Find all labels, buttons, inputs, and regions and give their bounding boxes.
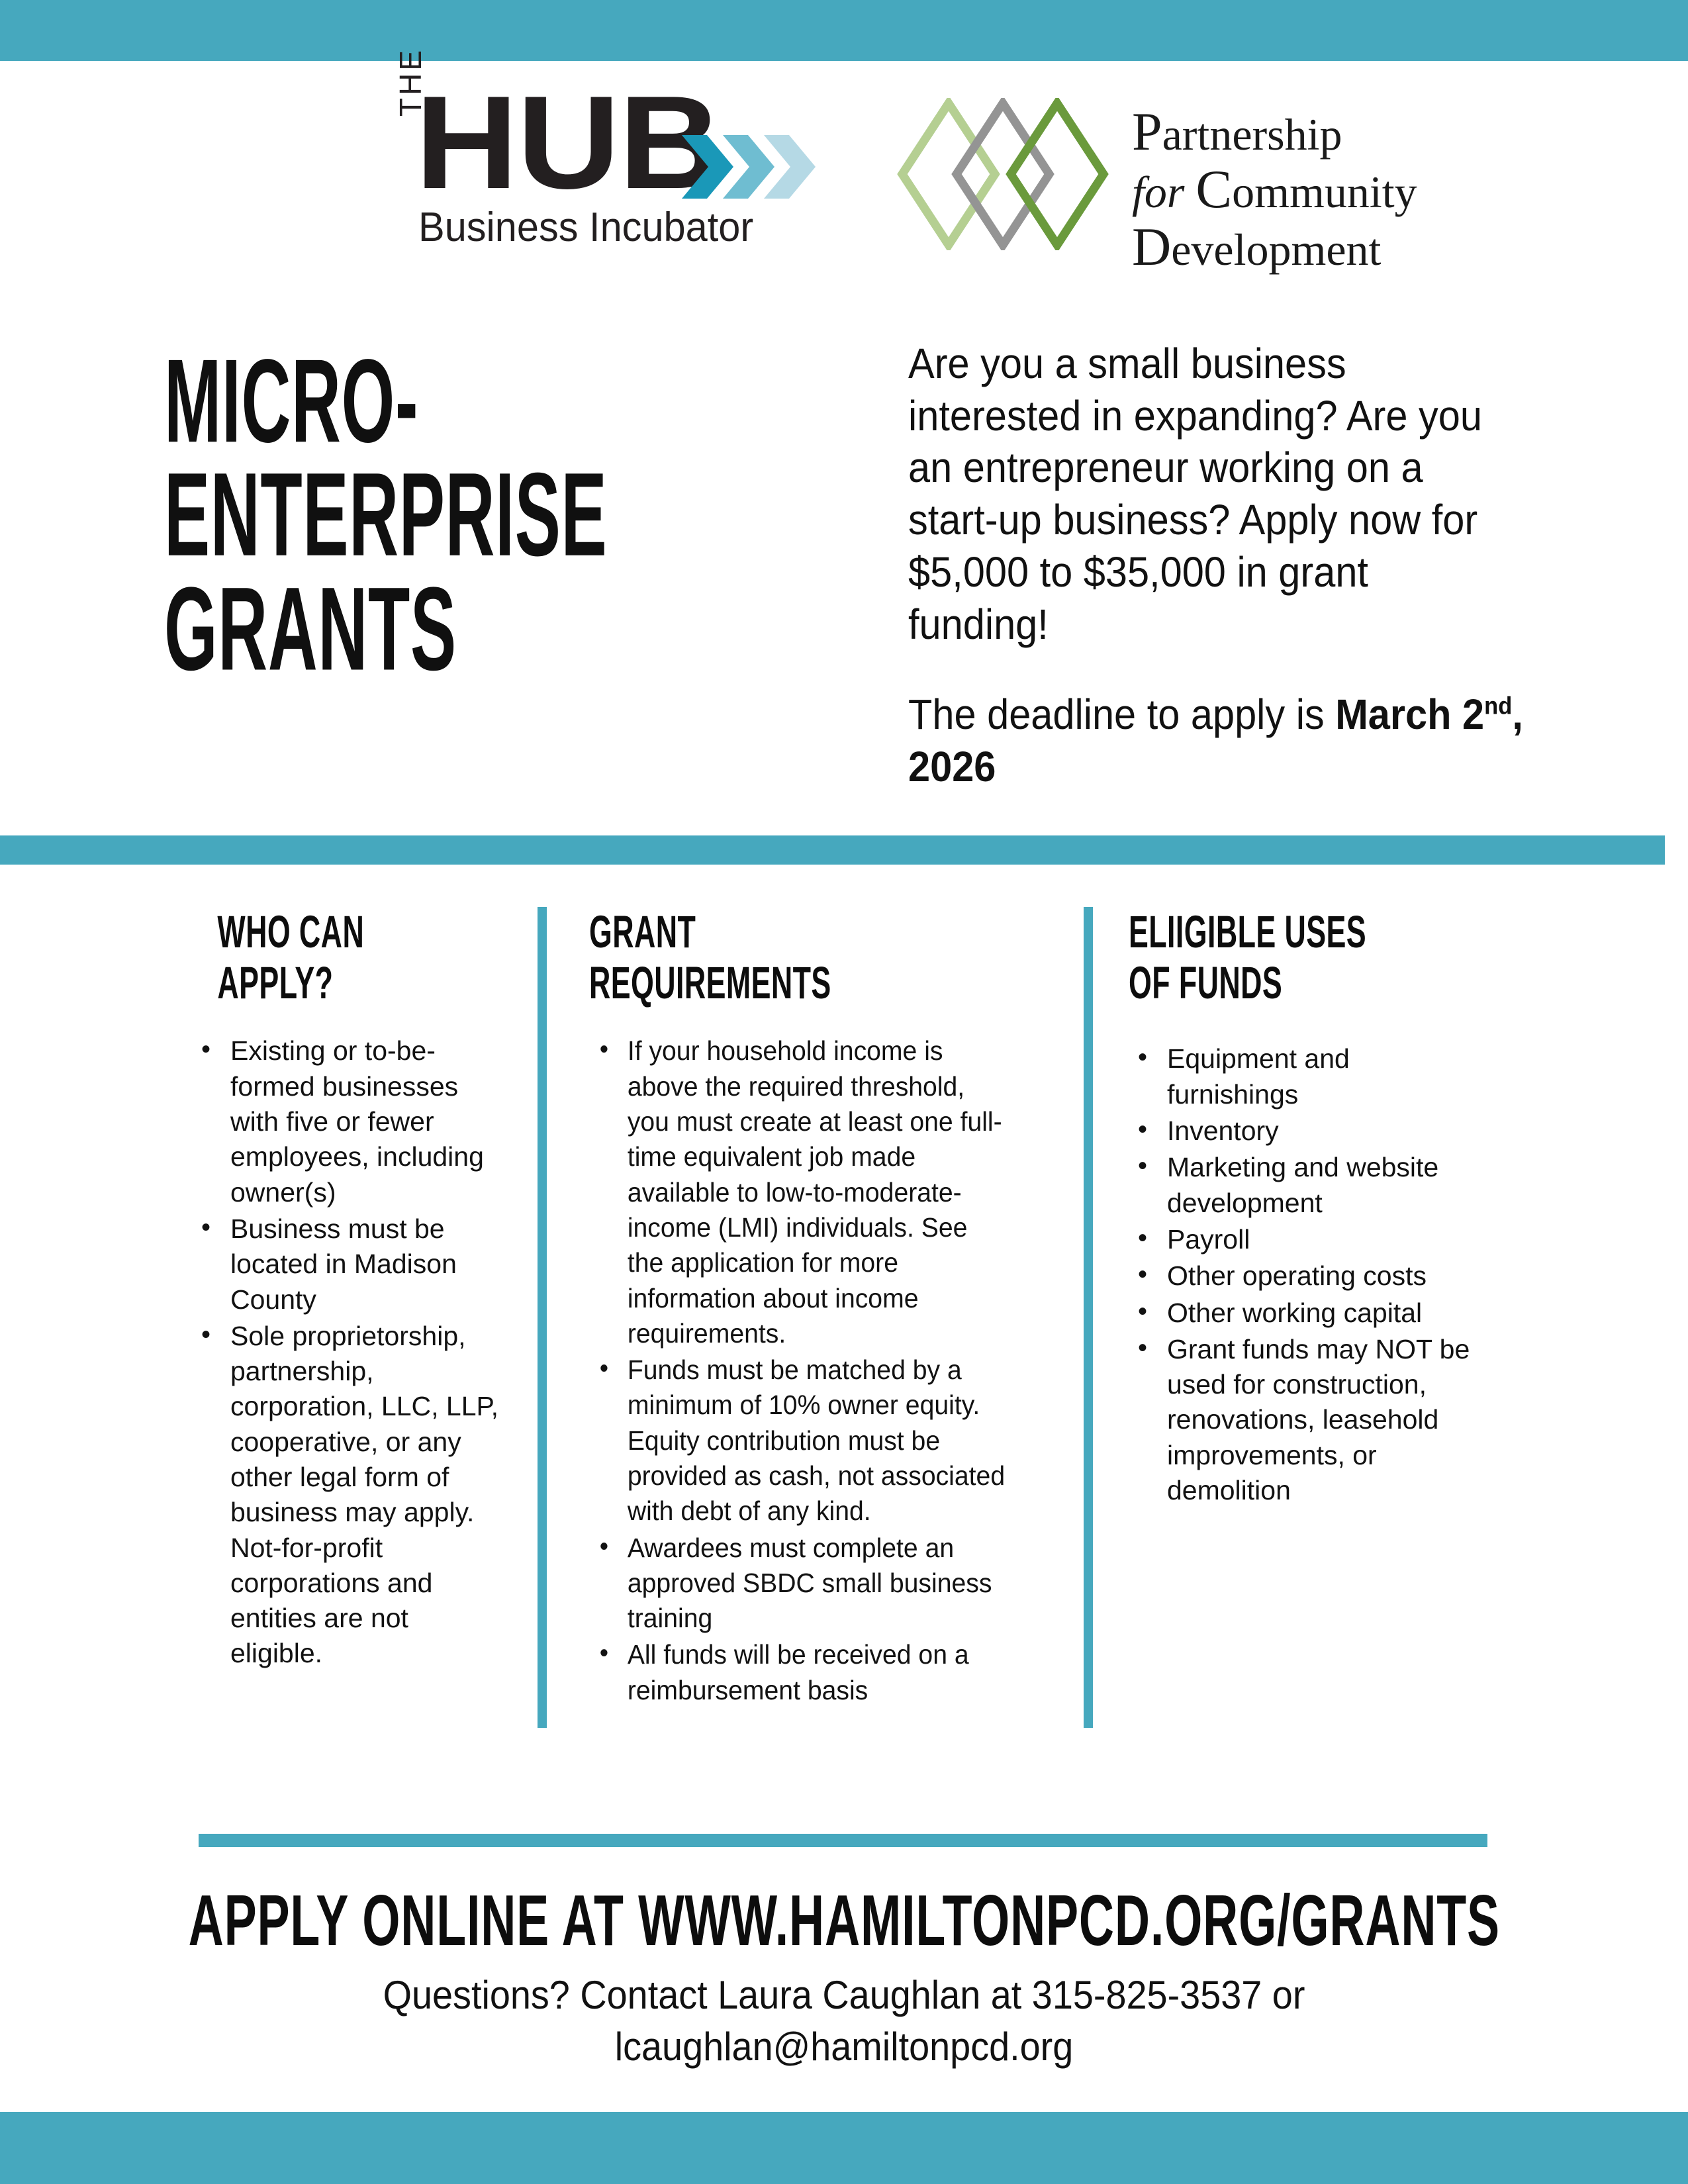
list-item: Grant funds may NOT be used for construc… xyxy=(1164,1332,1473,1508)
who-can-apply-list: Existing or to-be-formed businesses with… xyxy=(192,1033,503,1671)
footer-divider-rule xyxy=(199,1834,1487,1847)
pcd-line-3: Development xyxy=(1132,218,1410,276)
hero-description: Are you a small business interested in e… xyxy=(908,338,1511,650)
contact-line-2[interactable]: lcaughlan@hamiltonpcd.org xyxy=(59,2021,1629,2073)
column-heading: GRANT REQUIREMENTS xyxy=(589,907,939,1008)
column-grant-requirements: GRANT REQUIREMENTS If your household inc… xyxy=(589,907,1026,1709)
hub-chevron-icon xyxy=(682,135,827,199)
apply-online-callout[interactable]: APPLY ONLINE AT WWW.HAMILTONPCD.ORG/GRAN… xyxy=(0,1880,1688,1950)
hub-subtitle: Business Incubator xyxy=(418,204,753,251)
list-item: Existing or to-be-formed businesses with… xyxy=(228,1033,503,1210)
column-eligible-uses-of-funds: ELIIGIBLE USES OF FUNDS Equipment and fu… xyxy=(1129,907,1473,1509)
list-item: Business must be located in Madison Coun… xyxy=(228,1211,503,1317)
bottom-accent-band xyxy=(0,2112,1688,2184)
contact-line-1: Questions? Contact Laura Caughlan at 315… xyxy=(59,1970,1629,2021)
list-item: Funds must be matched by a minimum of 10… xyxy=(625,1353,1008,1529)
logo-row: THE HUB Business Incubator Partnership xyxy=(0,73,1688,291)
list-item: Other operating costs xyxy=(1164,1258,1473,1294)
top-accent-band xyxy=(0,0,1688,61)
column-heading: ELIIGIBLE USES OF FUNDS xyxy=(1129,907,1404,1008)
column-who-can-apply: WHO CAN APPLY? Existing or to-be-formed … xyxy=(192,907,503,1673)
page-title: MICRO- ENTERPRISE GRANTS xyxy=(164,344,688,686)
pcd-wordmark: Partnership for Community Development xyxy=(1132,103,1410,276)
hub-business-incubator-logo: THE HUB Business Incubator xyxy=(381,86,844,291)
list-item: Marketing and website development xyxy=(1164,1150,1473,1221)
list-item: Awardees must complete an approved SBDC … xyxy=(625,1531,1008,1637)
columns-section: WHO CAN APPLY? Existing or to-be-formed … xyxy=(0,907,1688,1734)
list-item: All funds will be received on a reimburs… xyxy=(625,1637,1008,1708)
deadline-text: The deadline to apply is March 2nd, 2026 xyxy=(908,688,1524,792)
pcd-line-1: Partnership xyxy=(1132,103,1410,161)
list-item: If your household income is above the re… xyxy=(625,1033,1008,1351)
hub-wordmark: HUB xyxy=(415,77,720,209)
eligible-uses-list: Equipment and furnishings Inventory Mark… xyxy=(1129,1041,1473,1508)
list-item: Sole proprietorship, partnership, corpor… xyxy=(228,1319,503,1672)
partnership-for-community-development-logo: Partnership for Community Development xyxy=(897,91,1407,263)
contact-info: Questions? Contact Laura Caughlan at 315… xyxy=(0,1970,1688,2073)
list-item: Equipment and furnishings xyxy=(1164,1041,1473,1112)
pcd-diamonds-icon xyxy=(897,98,1125,250)
middle-accent-band xyxy=(0,835,1665,865)
column-divider-1 xyxy=(538,907,547,1728)
deadline-lead: The deadline to apply is xyxy=(908,690,1335,738)
column-heading: WHO CAN APPLY? xyxy=(192,907,441,1008)
column-divider-2 xyxy=(1084,907,1093,1728)
list-item: Other working capital xyxy=(1164,1296,1473,1331)
grant-requirements-list: If your household income is above the re… xyxy=(589,1033,1026,1708)
list-item: Payroll xyxy=(1164,1222,1473,1257)
list-item: Inventory xyxy=(1164,1114,1473,1149)
apply-online-text: APPLY ONLINE AT WWW.HAMILTONPCD.ORG/GRAN… xyxy=(188,1880,1499,1962)
pcd-line-2: for Community xyxy=(1132,161,1410,218)
